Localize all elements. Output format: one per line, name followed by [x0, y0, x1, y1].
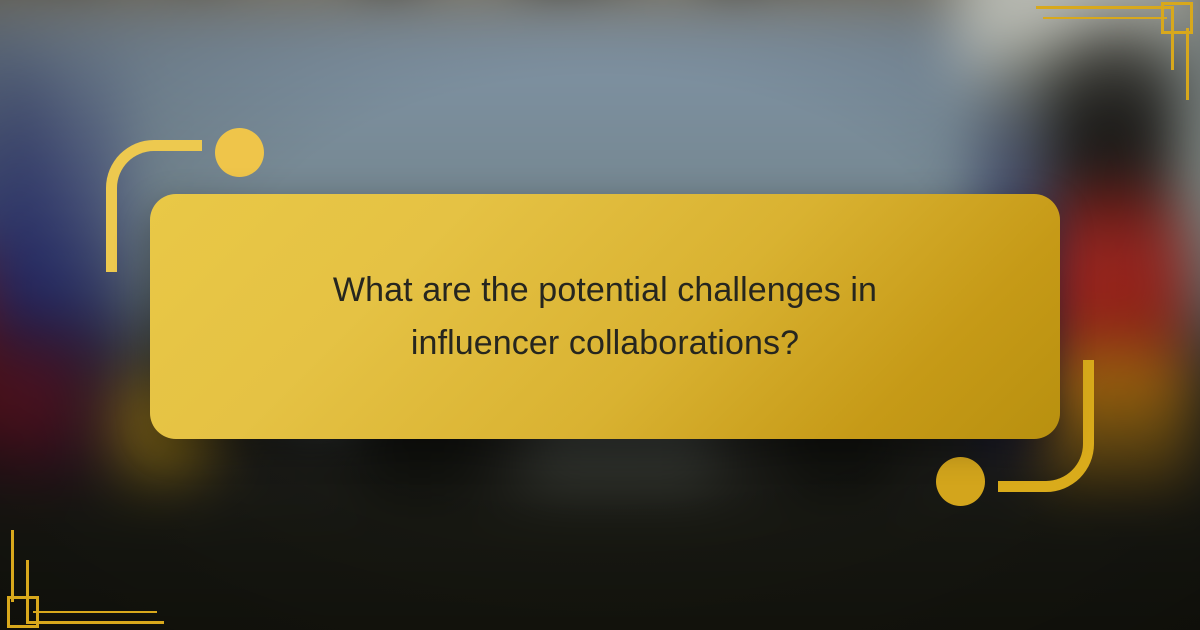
- circle-top-left-icon: [215, 128, 264, 177]
- question-text: What are the potential challenges in inf…: [255, 264, 955, 369]
- circle-bottom-right-icon: [936, 457, 985, 506]
- slide-canvas: What are the potential challenges in inf…: [0, 0, 1200, 630]
- question-card: What are the potential challenges in inf…: [150, 194, 1060, 439]
